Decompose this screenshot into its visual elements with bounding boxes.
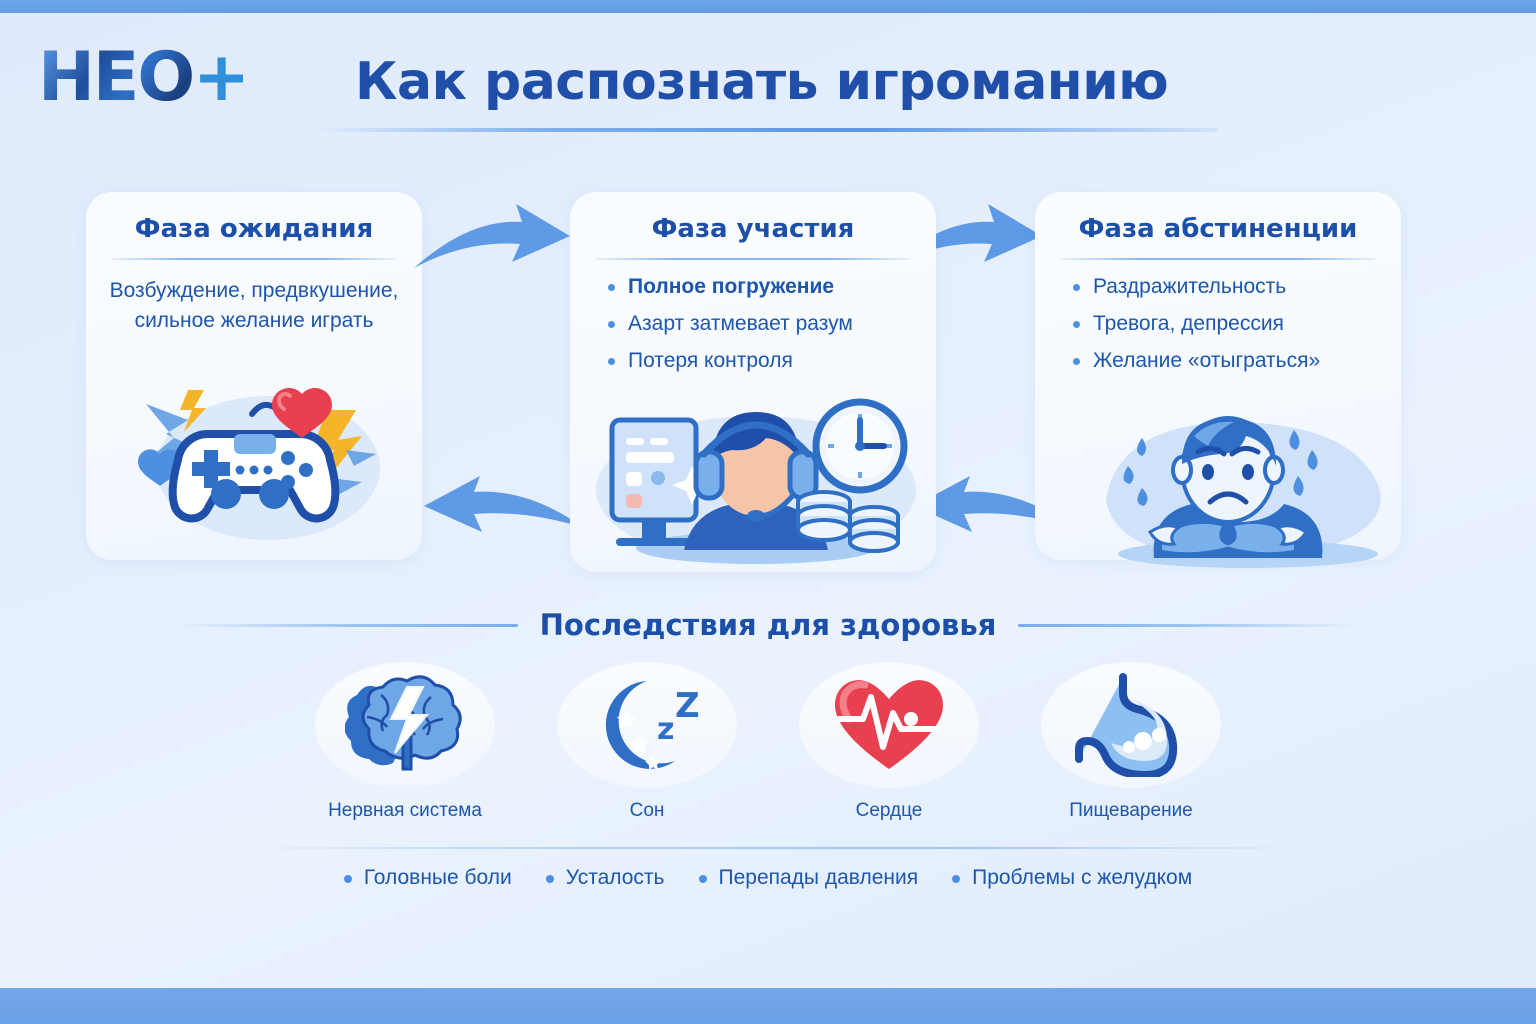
phase-bullet-list: Раздражительность Тревога, депрессия Жел… — [1057, 276, 1379, 371]
list-item: Потеря контроля — [606, 350, 914, 371]
organ-item-nervous-system[interactable]: Нервная система — [315, 662, 495, 822]
moon-zzz-icon: z Z — [587, 673, 707, 777]
top-accent-band — [0, 0, 1536, 13]
organ-blob — [799, 662, 979, 788]
footer-divider — [240, 847, 1298, 849]
list-item: Проблемы с желудком — [952, 866, 1192, 890]
heading-rule-left — [178, 624, 518, 627]
phase-card-title: Фаза участия — [570, 214, 936, 244]
list-item: Усталость — [546, 866, 665, 890]
organ-blob: z Z — [557, 662, 737, 788]
consequences-heading: Последствия для здоровья — [540, 608, 997, 642]
organ-item-heart[interactable]: Сердце — [799, 662, 979, 822]
consequences-heading-row: Последствия для здоровья — [0, 608, 1536, 642]
svg-text:Z: Z — [675, 686, 700, 726]
phase-card-divider — [1061, 258, 1375, 260]
phase-card-body: Возбуждение, предвкушение, сильное желан… — [86, 276, 422, 336]
phase-card-description: Возбуждение, предвкушение, сильное желан… — [108, 276, 400, 336]
title-underline — [318, 128, 1218, 132]
list-item: Головные боли — [344, 866, 512, 890]
gamepad-heart-icon — [130, 378, 390, 551]
organ-blob — [315, 662, 495, 788]
phase-card-title: Фаза ожидания — [86, 214, 422, 244]
flow-arrow-left-1 — [410, 472, 590, 547]
svg-text:z: z — [657, 712, 674, 747]
phase-card-divider — [596, 258, 910, 260]
heart-ecg-icon — [829, 673, 949, 777]
stomach-icon — [1071, 673, 1191, 777]
organ-blob — [1041, 662, 1221, 788]
list-item: Перепады давления — [699, 866, 919, 890]
brain-lightning-icon — [345, 673, 465, 777]
bottom-accent-band — [0, 988, 1536, 1024]
infographic-canvas: НЕО+ Как распознать игроманию Фаза ожида… — [0, 0, 1536, 1024]
brand-logo-text: НЕО — [38, 38, 193, 117]
phase-card-body: Полное погружение Азарт затмевает разум … — [570, 276, 936, 371]
list-item: Полное погружение — [606, 276, 914, 297]
list-item: Раздражительность — [1071, 276, 1379, 297]
organ-label: Нервная система — [328, 800, 482, 822]
organ-item-sleep[interactable]: z Z Сон — [557, 662, 737, 822]
list-item: Желание «отыграться» — [1071, 350, 1379, 371]
heading-rule-right — [1018, 624, 1358, 627]
phase-card-divider — [112, 258, 396, 260]
phase-card-title: Фаза абстиненции — [1035, 214, 1401, 244]
brand-logo: НЕО+ — [38, 44, 248, 112]
sad-boy-icon — [1098, 408, 1398, 573]
organ-list: Нервная система z Z Сон — [0, 662, 1536, 822]
organ-label: Сон — [630, 800, 665, 822]
gamer-headset-clock-coins-icon — [588, 398, 918, 571]
page-title: Как распознать игроманию — [355, 52, 1195, 112]
symptom-list: Головные боли Усталость Перепады давлени… — [0, 866, 1536, 890]
phase-card-body: Раздражительность Тревога, депрессия Жел… — [1035, 276, 1401, 371]
list-item: Азарт затмевает разум — [606, 313, 914, 334]
phase-bullet-list: Полное погружение Азарт затмевает разум … — [592, 276, 914, 371]
flow-arrow-right-1 — [408, 200, 578, 285]
organ-label: Пищеварение — [1069, 800, 1193, 822]
list-item: Тревога, депрессия — [1071, 313, 1379, 334]
brand-logo-plus: + — [193, 38, 248, 117]
organ-label: Сердце — [856, 800, 923, 822]
organ-item-digestion[interactable]: Пищеварение — [1041, 662, 1221, 822]
